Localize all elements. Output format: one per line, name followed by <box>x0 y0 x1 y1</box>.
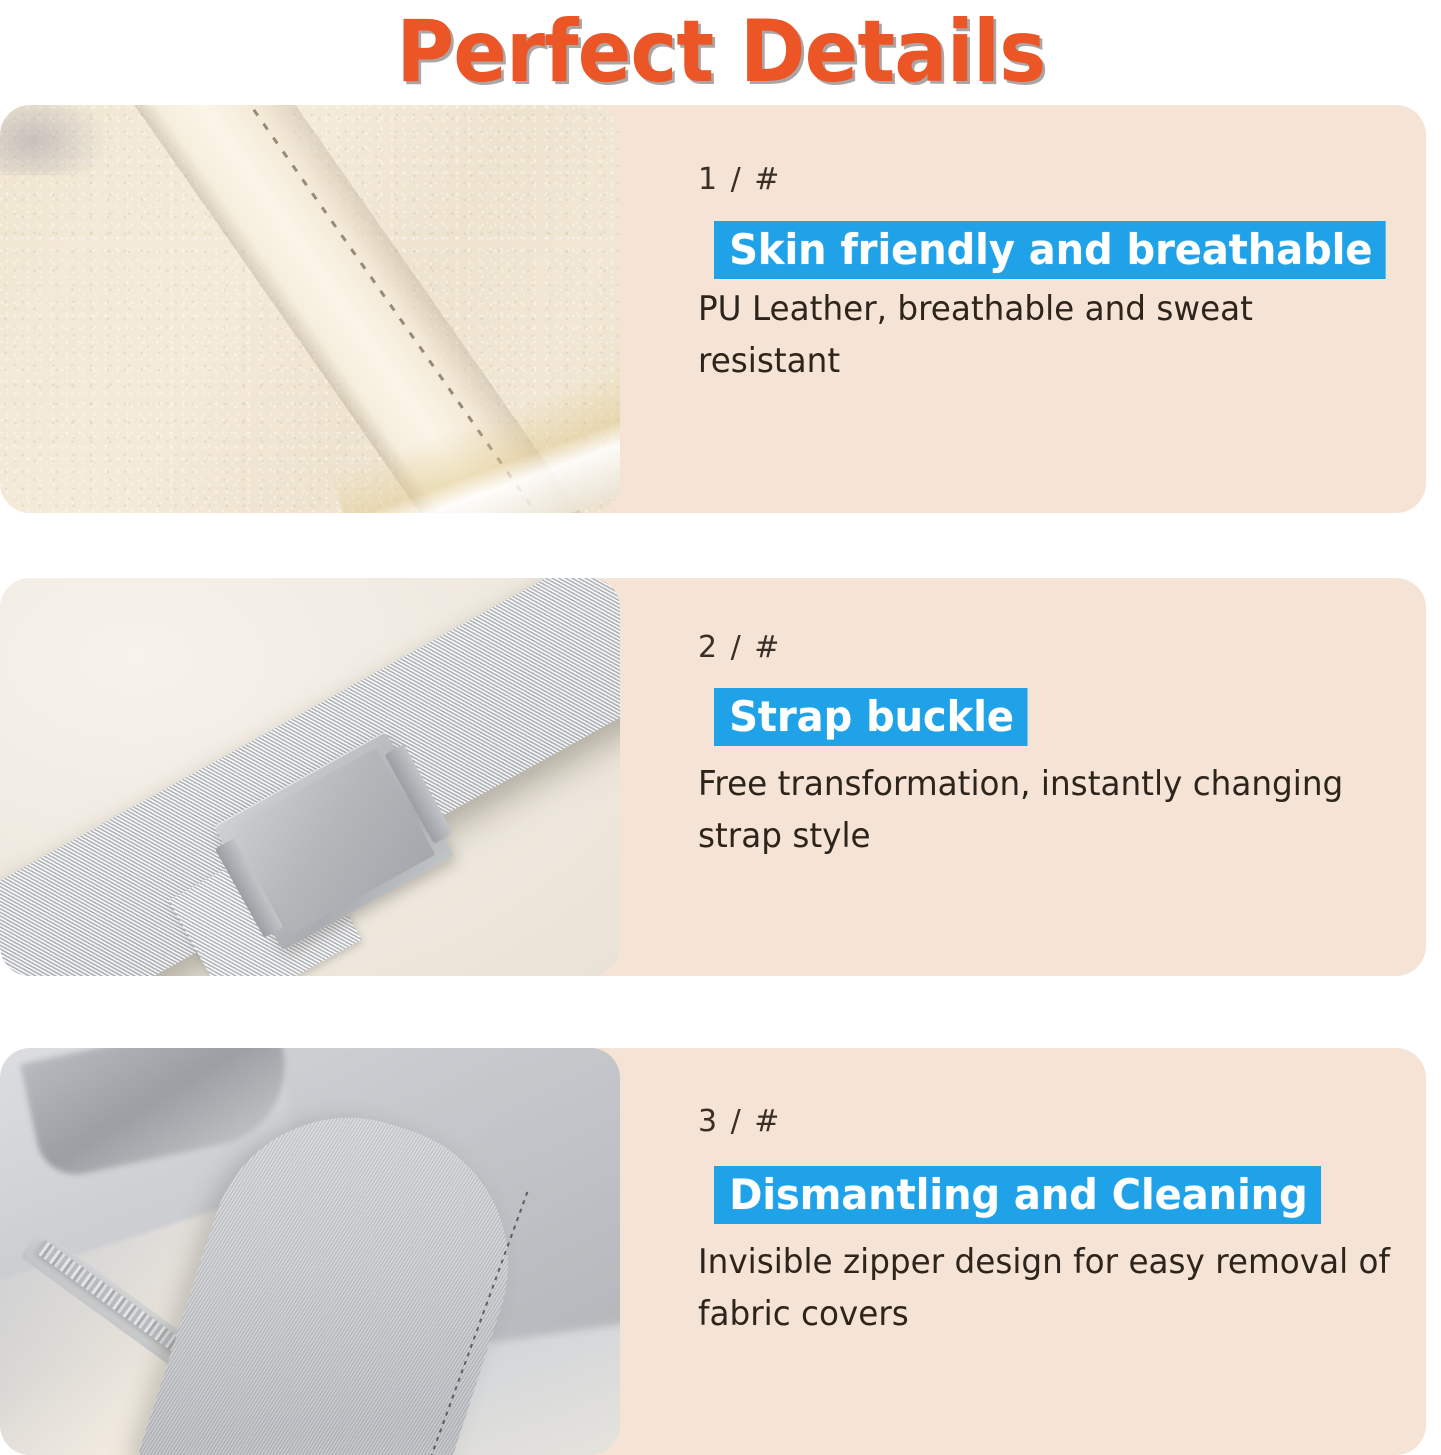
feature-description-3: Invisible zipper design for easy removal… <box>698 1236 1397 1340</box>
feature-index-1: 1 / # <box>698 162 781 197</box>
feature-headline-row-1: Skin friendly and breathable <box>714 221 1421 279</box>
page-header: Perfect Details <box>0 0 1441 104</box>
feature-text-3: 3 / # Dismantling and Cleaning Invisible… <box>620 1048 1426 1455</box>
feature-headline-3: Dismantling and Cleaning <box>714 1166 1321 1224</box>
page-title: Perfect Details <box>396 9 1045 95</box>
feature-description-1: PU Leather, breathable and sweat resista… <box>698 283 1397 387</box>
leather-corner-highlight <box>0 105 110 175</box>
feature-image-2 <box>0 578 620 976</box>
feature-description-2: Free transformation, instantly changing … <box>698 758 1397 862</box>
feature-text-2: 2 / # Strap buckle Free transformation, … <box>620 578 1426 976</box>
feature-headline-2: Strap buckle <box>714 688 1027 746</box>
feature-index-3: 3 / # <box>698 1104 781 1139</box>
feature-card-1: 1 / # Skin friendly and breathable PU Le… <box>0 105 1426 513</box>
feature-card-2: 2 / # Strap buckle Free transformation, … <box>0 578 1426 976</box>
feature-headline-1: Skin friendly and breathable <box>714 221 1386 279</box>
feature-image-1 <box>0 105 620 513</box>
feature-headline-row-3: Dismantling and Cleaning <box>714 1166 1353 1224</box>
feature-headline-row-2: Strap buckle <box>714 688 1044 746</box>
feature-card-3: 3 / # Dismantling and Cleaning Invisible… <box>0 1048 1426 1455</box>
feature-text-1: 1 / # Skin friendly and breathable PU Le… <box>620 105 1426 513</box>
feature-image-3 <box>0 1048 620 1455</box>
feature-index-2: 2 / # <box>698 630 781 665</box>
